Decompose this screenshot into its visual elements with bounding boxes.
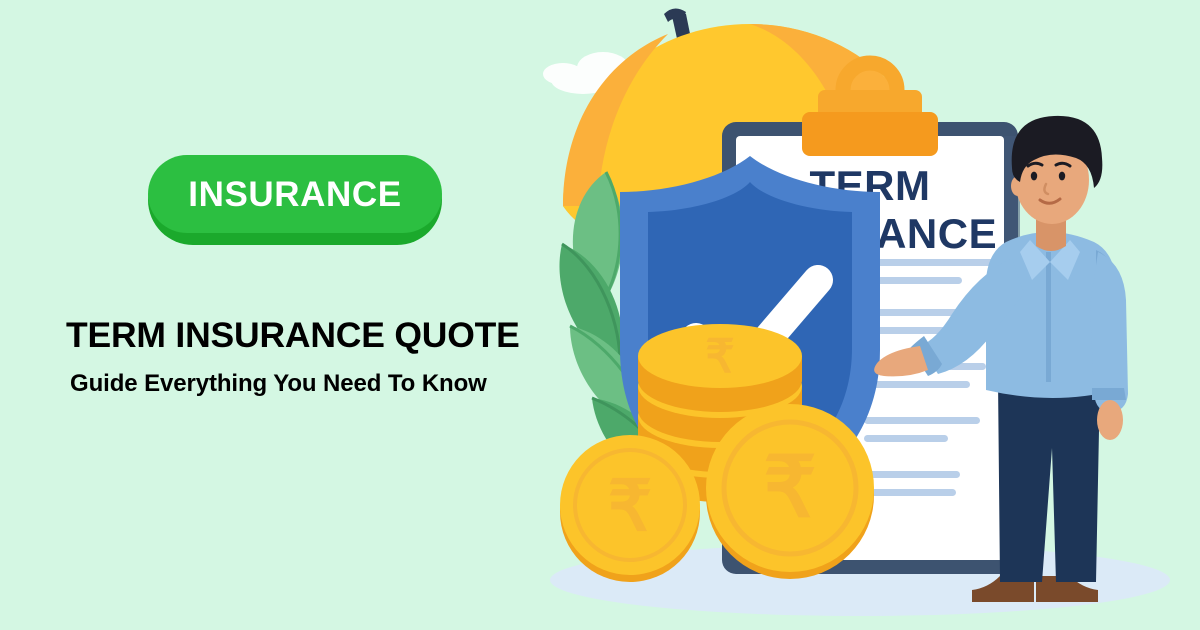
coin-currency-symbol: ₹ [705,330,734,382]
page-title: TERM INSURANCE QUOTE [66,316,526,355]
hand-right [1097,400,1123,440]
eye-left [1031,172,1037,181]
text-column: INSURANCE TERM INSURANCE QUOTE Guide Eve… [0,0,540,630]
insurance-illustration: TERM INSURANCE [500,0,1200,630]
insurance-banner: INSURANCE TERM INSURANCE QUOTE Guide Eve… [0,0,1200,630]
eye-right [1059,172,1065,181]
insurance-badge-label: INSURANCE [188,177,401,212]
insurance-badge-face: INSURANCE [148,155,442,233]
coin-currency-symbol: ₹ [763,440,816,534]
page-subtitle: Guide Everything You Need To Know [70,370,530,399]
coin-currency-symbol: ₹ [608,467,653,545]
coin-front-right: ₹ [706,404,874,579]
insurance-badge[interactable]: INSURANCE [148,155,442,245]
coin-front-left: ₹ [560,435,700,582]
